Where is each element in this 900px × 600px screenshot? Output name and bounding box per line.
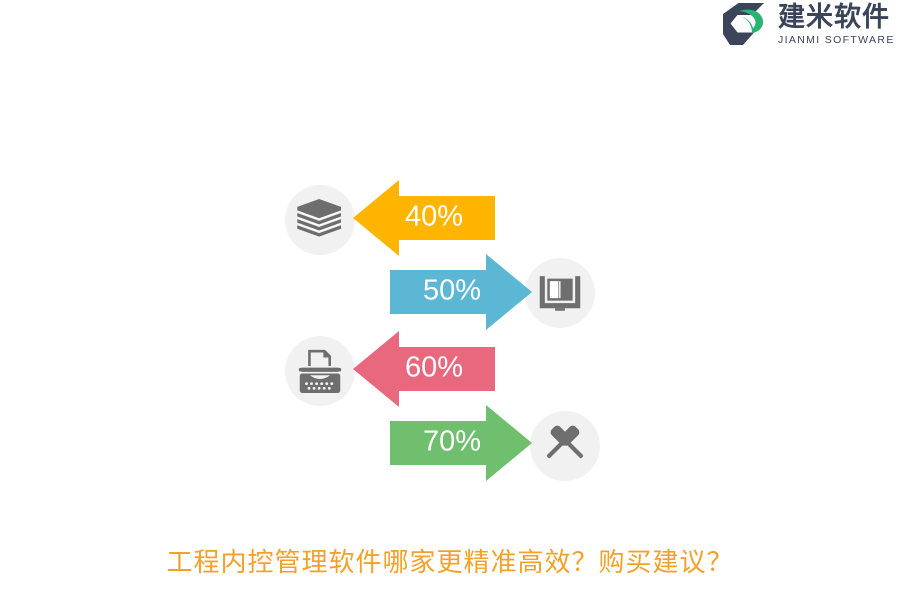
- arrow-value-50: 50%: [423, 275, 481, 307]
- arrow-flow-diagram: 40% 50% 60% 70%: [0, 0, 900, 600]
- brand-text-block: 建米软件 JIANMI SOFTWARE: [778, 4, 895, 46]
- flow-row-40[interactable]: 40%: [285, 180, 495, 256]
- flow-row-50[interactable]: 50%: [390, 254, 595, 330]
- brand-name-en: JIANMI SOFTWARE: [778, 35, 895, 46]
- icon-circle-crossed-hammers: [530, 411, 600, 481]
- arrow-value-60: 60%: [405, 352, 463, 384]
- brand-name-cn: 建米软件: [778, 4, 895, 31]
- flow-row-70[interactable]: 70%: [390, 405, 600, 481]
- arrow-value-40: 40%: [405, 201, 463, 233]
- arrow-value-70: 70%: [423, 426, 481, 458]
- flow-row-60[interactable]: 60%: [285, 331, 495, 407]
- icon-circle-book-stack: [285, 185, 355, 255]
- page-caption: 工程内控管理软件哪家更精准高效？购买建议？: [0, 542, 900, 579]
- jianmi-leaf-logo-icon: [722, 1, 772, 47]
- brand-logo: 建米软件 JIANMI SOFTWARE: [722, 0, 900, 50]
